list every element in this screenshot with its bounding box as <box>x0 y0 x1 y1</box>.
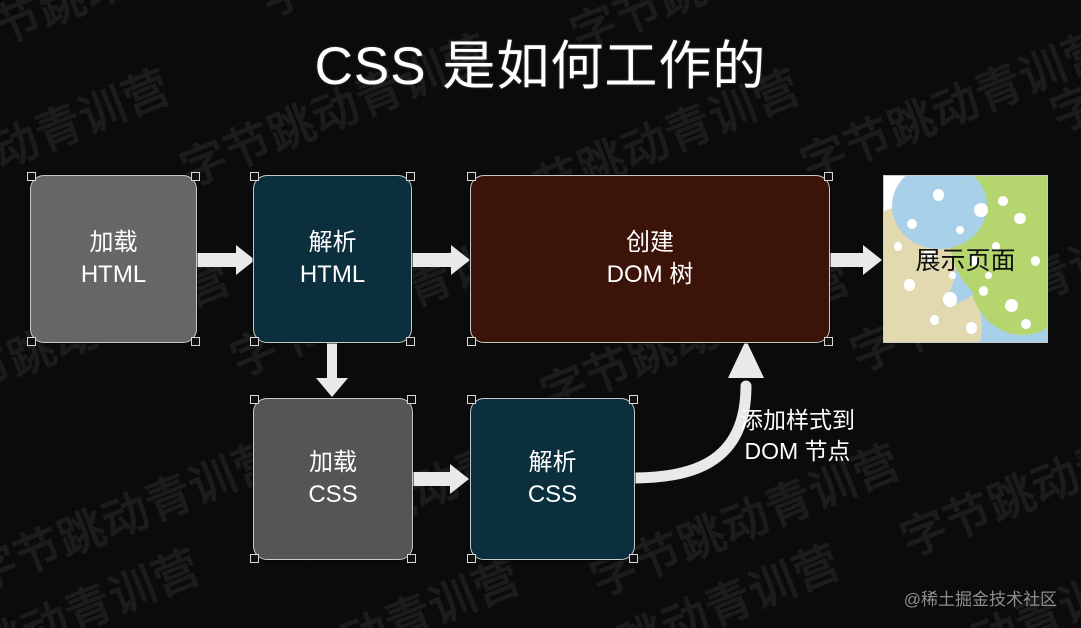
map-dot <box>933 189 944 201</box>
credit-watermark: @稀土掘金技术社区 <box>904 585 1057 610</box>
flow-node-label-line1: 创建 <box>626 227 674 259</box>
map-dot <box>979 286 989 296</box>
arrow-create-dom-to-render-page <box>829 253 865 267</box>
flow-node-label-line2: HTML <box>300 259 365 291</box>
flow-node-label-line1: 加载 <box>90 227 138 259</box>
watermark-text: 字节跳动青训营 <box>0 421 289 605</box>
page-title: CSS 是如何工作的 <box>0 24 1081 100</box>
flow-node-label-line2: HTML <box>81 259 146 291</box>
map-dot <box>907 219 917 229</box>
arrow-parse-html-to-create-dom <box>411 253 453 267</box>
flow-node-create-dom[interactable]: 创建 DOM 树 <box>470 175 830 343</box>
map-dot <box>894 242 902 250</box>
flow-node-label-line2: CSS <box>308 479 357 511</box>
watermark-text: 字节跳动青训营 <box>860 0 1081 15</box>
arrow-head-icon <box>451 245 470 275</box>
map-dot <box>1014 213 1025 225</box>
flow-node-render-page[interactable]: 展示页面 <box>883 175 1048 343</box>
flow-node-load-css[interactable]: 加载 CSS <box>253 398 413 560</box>
curve-annotation: 添加样式到 DOM 节点 <box>740 405 855 467</box>
flow-node-label-line1: 解析 <box>309 227 357 259</box>
map-dot <box>904 279 915 291</box>
arrow-load-css-to-parse-css <box>412 472 452 486</box>
flow-node-render-page-label: 展示页面 <box>915 241 1015 277</box>
arrow-load-html-to-parse-html <box>196 253 238 267</box>
flow-node-label-line2: DOM 树 <box>607 259 694 291</box>
arrow-head-icon <box>863 245 882 275</box>
flow-node-parse-css[interactable]: 解析 CSS <box>470 398 635 560</box>
flow-node-label-line2: CSS <box>528 479 577 511</box>
flow-node-load-html[interactable]: 加载 HTML <box>30 175 197 343</box>
curve-annotation-line1: 添加样式到 <box>740 405 855 436</box>
flow-node-label-line1: 解析 <box>529 447 577 479</box>
map-dot <box>956 226 964 234</box>
flow-node-label-line1: 加载 <box>309 447 357 479</box>
watermark-text: 字节跳动青训营 <box>890 386 1081 570</box>
flow-node-parse-html[interactable]: 解析 HTML <box>253 175 412 343</box>
watermark-text: 字节跳动青训营 <box>0 531 209 628</box>
arrow-head-icon <box>450 464 469 494</box>
curve-annotation-line2: DOM 节点 <box>740 436 855 467</box>
arrow-parse-html-to-load-css <box>327 343 337 379</box>
map-dot <box>1021 319 1031 329</box>
map-dot <box>966 322 977 334</box>
map-dot <box>1005 299 1018 312</box>
arrow-head-icon <box>316 378 348 397</box>
map-dot <box>1031 256 1041 266</box>
map-dot <box>998 196 1008 206</box>
